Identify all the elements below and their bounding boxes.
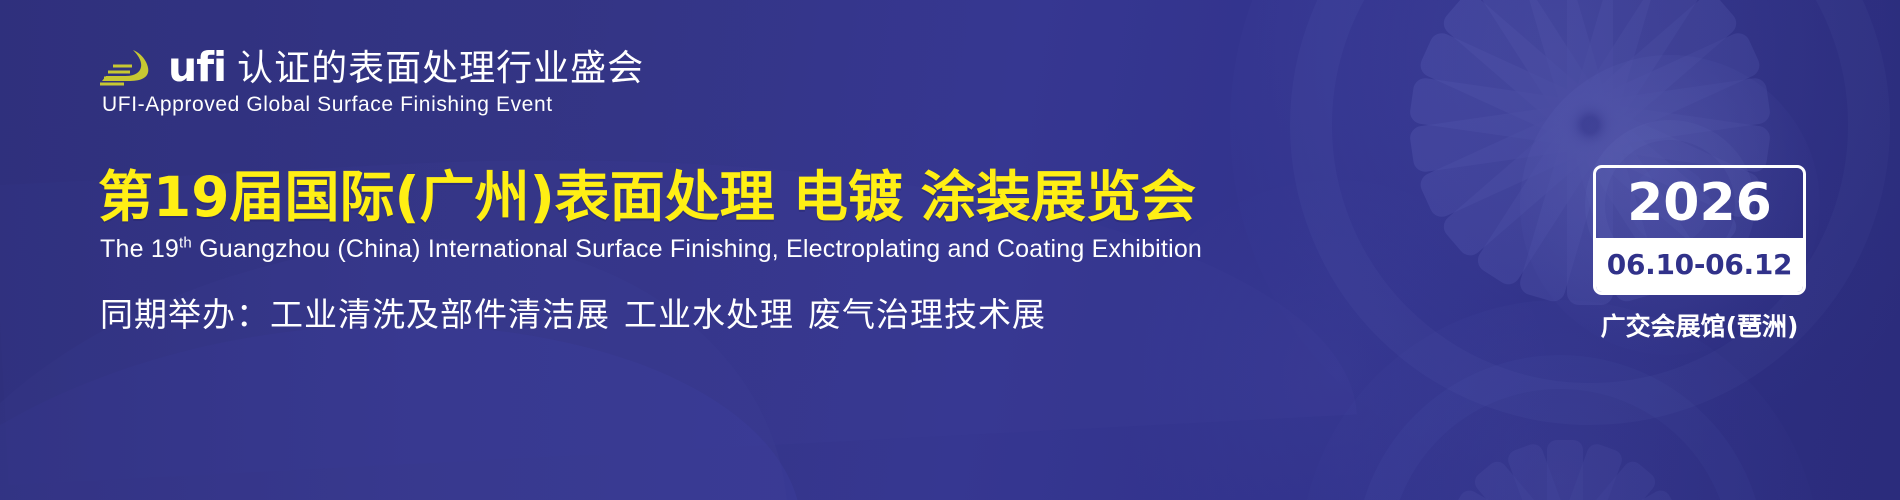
concurrent-event-2: 废气治理技术展	[808, 295, 1046, 334]
ufi-tagline-en: UFI-Approved Global Surface Finishing Ev…	[102, 93, 644, 117]
banner-content: ufi 认证的表面处理行业盛会 UFI-Approved Global Surf…	[0, 0, 1900, 500]
ufi-tagline-cn: 认证的表面处理行业盛会	[237, 50, 644, 88]
event-date-range: 06.10-06.12	[1596, 238, 1803, 292]
concurrent-events-line: 同期举办：工业清洗及部件清洁展工业水处理废气治理技术展	[100, 295, 1046, 335]
subtitle-english: The 19th Guangzhou (China) International…	[100, 234, 1202, 264]
headline-part-3: 涂装展览会	[921, 165, 1196, 229]
subtitle-prefix: The 19	[100, 235, 179, 263]
date-card: 2026 06.10-06.12	[1593, 165, 1806, 295]
concurrent-event-0: 工业清洗及部件清洁展	[270, 295, 610, 334]
subtitle-rest: Guangzhou (China) International Surface …	[192, 235, 1202, 263]
page-title: 第19届国际(广州)表面处理电镀涂装展览会	[98, 168, 1196, 226]
ufi-swoosh-mark-icon	[100, 48, 162, 86]
event-year: 2026	[1596, 168, 1803, 238]
ufi-logo-row: ufi 认证的表面处理行业盛会	[100, 42, 644, 88]
headline-part-1: 第19届国际(广州)表面处理	[98, 165, 775, 229]
headline-part-2: 电镀	[793, 165, 903, 229]
concurrent-label: 同期举办：	[100, 295, 270, 334]
ufi-wordmark: ufi	[168, 47, 226, 88]
exhibition-banner: ufi 认证的表面处理行业盛会 UFI-Approved Global Surf…	[0, 0, 1900, 500]
ufi-logo-block: ufi 认证的表面处理行业盛会 UFI-Approved Global Surf…	[100, 42, 644, 117]
concurrent-event-1: 工业水处理	[624, 295, 794, 334]
venue-name: 广交会展馆(琶洲)	[1593, 312, 1806, 342]
subtitle-ordinal: th	[179, 235, 192, 252]
